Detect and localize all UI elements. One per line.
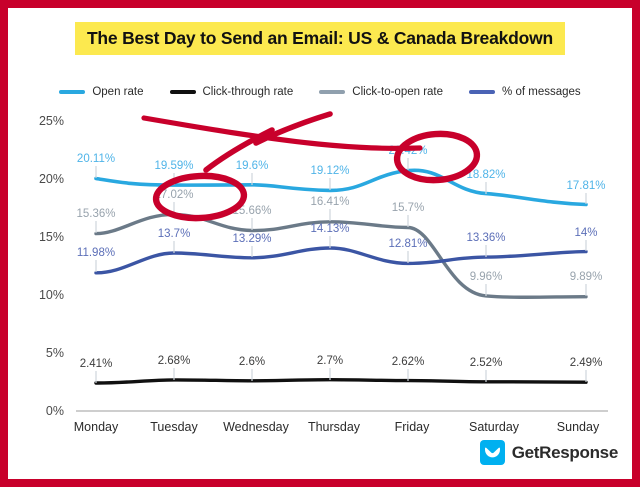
legend-item-open-rate[interactable]: Open rate	[59, 86, 143, 98]
data-label: 2.41%	[80, 358, 113, 370]
data-label: 19.6%	[236, 160, 269, 172]
data-label: 16.41%	[310, 196, 349, 208]
line-chart: 25% 20% 15% 10% 5% 0%	[8, 108, 632, 438]
series-line-click-through-rate	[96, 380, 586, 383]
data-label: 12.81%	[388, 238, 427, 250]
y-tick-label: 15%	[39, 230, 64, 244]
data-label: 14%	[574, 227, 597, 239]
data-label: 13.29%	[232, 233, 271, 245]
legend-swatch-click-to-open-rate	[319, 90, 345, 94]
data-label: 14.13%	[310, 223, 349, 235]
data-label: 15.7%	[392, 202, 425, 214]
y-tick-label: 25%	[39, 114, 64, 128]
x-tick-label: Friday	[395, 420, 430, 434]
legend-label-open-rate: Open rate	[92, 86, 143, 98]
legend-item-pct-of-messages[interactable]: % of messages	[469, 86, 581, 98]
legend-swatch-open-rate	[59, 90, 85, 94]
legend-label-pct-of-messages: % of messages	[502, 86, 581, 98]
data-label: 20.11%	[77, 153, 115, 165]
series-line-pct-of-messages	[96, 248, 586, 273]
x-tick-label: Monday	[74, 420, 119, 434]
x-axis: Monday Tuesday Wednesday Thursday Friday…	[74, 420, 600, 434]
data-label: 15.36%	[76, 208, 115, 220]
data-label: 11.98%	[77, 247, 115, 259]
y-tick-label: 10%	[39, 288, 64, 302]
getresponse-logo: GetResponse	[480, 440, 618, 465]
data-label: 17.81%	[566, 180, 605, 192]
y-tick-label: 20%	[39, 172, 64, 186]
legend-label-click-to-open-rate: Click-to-open rate	[352, 86, 443, 98]
x-tick-label: Thursday	[308, 420, 361, 434]
chart-svg: 25% 20% 15% 10% 5% 0%	[8, 108, 632, 438]
legend-item-click-through-rate[interactable]: Click-through rate	[170, 86, 294, 98]
x-tick-label: Wednesday	[223, 420, 290, 434]
x-tick-label: Tuesday	[150, 420, 198, 434]
data-label: 2.6%	[239, 356, 265, 368]
data-label: 2.62%	[392, 356, 425, 368]
chart-canvas: The Best Day to Send an Email: US & Cana…	[8, 8, 632, 479]
data-label: 9.96%	[470, 271, 503, 283]
legend-swatch-pct-of-messages	[469, 90, 495, 94]
legend-swatch-click-through-rate	[170, 90, 196, 94]
infographic-frame: The Best Day to Send an Email: US & Cana…	[0, 0, 640, 487]
y-tick-label: 0%	[46, 404, 64, 418]
title-text: The Best Day to Send an Email: US & Cana…	[75, 22, 565, 55]
data-label: 2.7%	[317, 355, 343, 367]
data-label: 13.7%	[158, 228, 191, 240]
data-label: 9.89%	[570, 271, 603, 283]
data-label: 2.49%	[570, 357, 603, 369]
data-label: 19.59%	[154, 160, 193, 172]
legend-label-click-through-rate: Click-through rate	[203, 86, 294, 98]
chart-legend: Open rate Click-through rate Click-to-op…	[8, 86, 632, 98]
x-tick-label: Sunday	[557, 420, 600, 434]
page-title: The Best Day to Send an Email: US & Cana…	[8, 22, 632, 55]
legend-item-click-to-open-rate[interactable]: Click-to-open rate	[319, 86, 443, 98]
data-label: 2.68%	[158, 355, 191, 367]
y-tick-label: 5%	[46, 346, 64, 360]
logo-wordmark: GetResponse	[512, 443, 618, 463]
data-label: 19.12%	[310, 165, 349, 177]
envelope-icon	[480, 440, 505, 465]
y-axis: 25% 20% 15% 10% 5% 0%	[39, 114, 64, 418]
x-tick-label: Saturday	[469, 420, 520, 434]
data-label: 13.36%	[466, 232, 505, 244]
data-label: 2.52%	[470, 357, 503, 369]
data-label: 18.82%	[466, 169, 505, 181]
